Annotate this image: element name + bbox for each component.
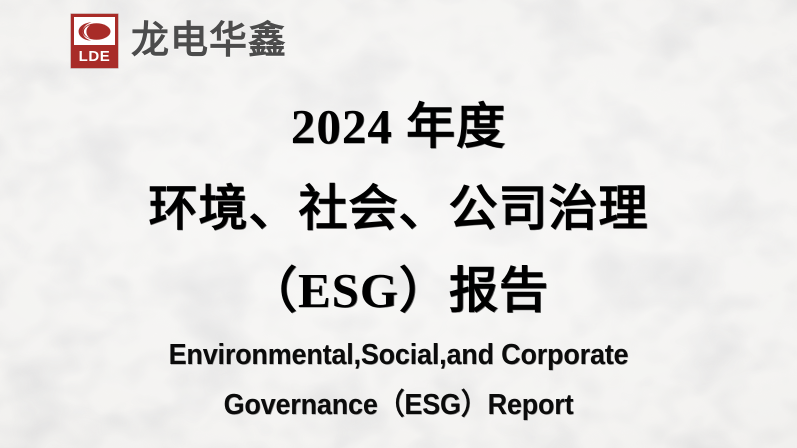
logo-swoosh-panel [74, 17, 115, 45]
logo-swoosh-icon [77, 20, 113, 42]
subtitle-line-one: Environmental,Social,and Corporate [28, 330, 769, 380]
report-cover-page: LDE 龙电华鑫 2024 年度 环境、社会、公司治理 （ESG）报告 Envi… [0, 0, 797, 448]
subtitle-line-two: Governance（ESG）Report [28, 380, 769, 430]
company-wordmark: 龙电华鑫 [131, 22, 287, 60]
logo-abbreviation-text: LDE [71, 49, 118, 64]
title-line-esg-chinese: 环境、社会、公司治理 [0, 168, 797, 250]
cover-subtitle-block: Environmental,Social,and Corporate Gover… [0, 330, 797, 430]
lde-logo-mark-icon: LDE [71, 14, 118, 68]
title-line-report: （ESG）报告 [0, 250, 797, 332]
cover-title-block: 2024 年度 环境、社会、公司治理 （ESG）报告 [0, 86, 797, 332]
title-line-year: 2024 年度 [0, 86, 797, 168]
company-logo-lockup: LDE 龙电华鑫 [71, 14, 287, 68]
